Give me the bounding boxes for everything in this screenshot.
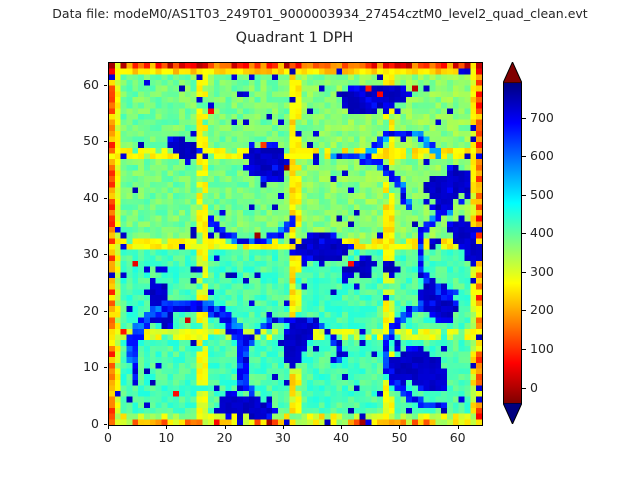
y-tick-label: 60 [61, 77, 99, 92]
colorbar-tick-label: 100 [530, 341, 554, 356]
y-tick-label: 40 [61, 190, 99, 205]
colorbar-tick-label: 400 [530, 225, 554, 240]
x-tick-mark [225, 425, 226, 429]
colorbar-tick-label: 0 [530, 380, 538, 395]
colorbar-tick-mark [522, 349, 526, 350]
colorbar-tick-label: 300 [530, 264, 554, 279]
heatmap-axes[interactable] [108, 62, 483, 426]
x-tick-label: 60 [438, 430, 478, 445]
y-tick-mark [104, 254, 108, 255]
x-tick-mark [458, 425, 459, 429]
colorbar-tick-mark [522, 118, 526, 119]
matplotlib-figure: Data file: modeM0/AS1T03_249T01_90000039… [0, 0, 640, 480]
colorbar-extend-bottom-icon [503, 403, 522, 424]
colorbar-tick-label: 200 [530, 302, 554, 317]
y-tick-mark [104, 198, 108, 199]
detector-pixel-heatmap[interactable] [109, 63, 482, 425]
x-tick-mark [341, 425, 342, 429]
y-tick-label: 0 [61, 416, 99, 431]
y-tick-label: 50 [61, 133, 99, 148]
x-tick-mark [108, 425, 109, 429]
y-tick-mark [104, 141, 108, 142]
x-tick-mark [166, 425, 167, 429]
data-file-annotation: Data file: modeM0/AS1T03_249T01_90000039… [0, 6, 640, 21]
y-tick-mark [104, 367, 108, 368]
x-tick-label: 40 [321, 430, 361, 445]
x-tick-mark [283, 425, 284, 429]
colorbar[interactable] [503, 62, 522, 424]
colorbar-tick-label: 500 [530, 187, 554, 202]
colorbar-tick-mark [522, 388, 526, 389]
y-tick-mark [104, 85, 108, 86]
x-tick-label: 10 [146, 430, 186, 445]
y-tick-label: 10 [61, 359, 99, 374]
colorbar-tick-mark [522, 310, 526, 311]
y-tick-mark [104, 424, 108, 425]
colorbar-gradient [503, 83, 522, 403]
x-tick-mark [399, 425, 400, 429]
x-tick-label: 50 [379, 430, 419, 445]
y-tick-label: 30 [61, 246, 99, 261]
y-tick-label: 20 [61, 303, 99, 318]
colorbar-tick-label: 700 [530, 110, 554, 125]
colorbar-tick-label: 600 [530, 148, 554, 163]
x-tick-label: 0 [88, 430, 128, 445]
x-tick-label: 20 [205, 430, 245, 445]
page-title: Quadrant 1 DPH [0, 30, 589, 46]
x-tick-label: 30 [263, 430, 303, 445]
colorbar-extend-top-icon [503, 62, 522, 83]
colorbar-tick-mark [522, 233, 526, 234]
colorbar-tick-mark [522, 195, 526, 196]
y-tick-mark [104, 311, 108, 312]
colorbar-tick-mark [522, 272, 526, 273]
colorbar-tick-mark [522, 156, 526, 157]
